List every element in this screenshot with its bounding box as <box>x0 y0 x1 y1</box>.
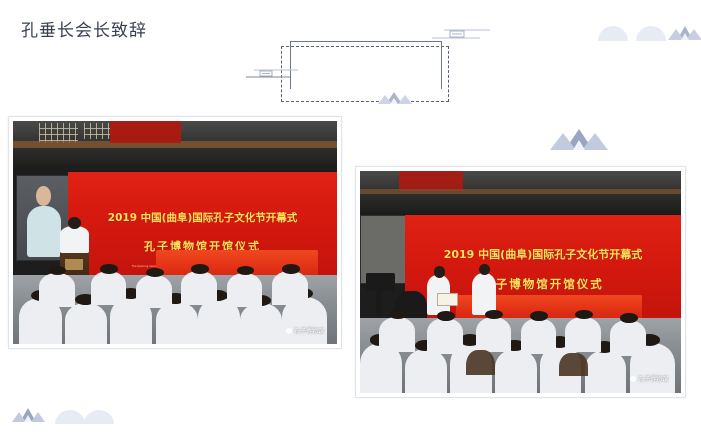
audience-head <box>530 311 548 321</box>
audience-member <box>227 273 263 307</box>
audience-head <box>282 264 300 273</box>
screen-face <box>36 186 52 206</box>
audience-head <box>146 268 164 277</box>
audience-member <box>65 303 107 344</box>
lattice-window <box>84 123 110 139</box>
scroll-line-icon <box>432 26 490 42</box>
banner-line-2: 孔子博物馆开馆仪式 <box>482 276 604 292</box>
watermark-text: 孔子博物馆 <box>638 374 668 383</box>
audience-head <box>485 310 503 320</box>
banner-line-1: 2019 中国(曲阜)国际孔子文化节开幕式 <box>108 210 297 225</box>
cloud-icon <box>55 410 85 424</box>
mountain-icon <box>550 122 608 150</box>
audience-member <box>610 320 645 356</box>
audience-member <box>495 349 537 393</box>
audience-head <box>620 313 638 323</box>
audience-member <box>240 303 282 344</box>
audience-member <box>521 318 556 354</box>
official-head <box>434 266 445 277</box>
speaker-head <box>68 217 81 229</box>
audience-member <box>272 271 308 305</box>
audience-head <box>100 264 118 273</box>
audience-member <box>565 317 600 353</box>
audience-member <box>181 271 217 305</box>
photo-right-image: 2019 中国(曲阜)国际孔子文化节开幕式 孔子博物馆开馆仪式 The Open… <box>360 171 681 393</box>
chair-back <box>559 353 588 376</box>
audience-member <box>39 273 75 307</box>
mountain-icon <box>378 88 414 104</box>
audience-member <box>379 317 414 353</box>
audience-member <box>476 317 511 353</box>
cloud-icon <box>598 26 628 41</box>
audience-member <box>91 271 127 305</box>
audience-member <box>405 349 447 393</box>
watermark-dot-icon <box>286 328 292 334</box>
wall-beam <box>360 189 681 195</box>
slide-canvas: 孔垂长会长致辞 <box>0 0 701 432</box>
cloud-icon <box>636 26 666 41</box>
audience-member <box>427 318 462 354</box>
watermark-text: 孔子博物馆 <box>294 326 324 335</box>
cloud-icon <box>84 410 114 424</box>
title-box <box>281 46 449 102</box>
page-title: 孔垂长会长致辞 <box>0 0 168 56</box>
audience-member <box>585 350 627 393</box>
audience-head <box>437 311 455 321</box>
audience-head <box>389 310 407 320</box>
mountain-icon <box>668 20 701 40</box>
photo-left-image: 2019 中国(曲阜)国际孔子文化节开幕式 孔子博物馆开馆仪式 The Open… <box>13 121 337 344</box>
banner-line-1: 2019 中国(曲阜)国际孔子文化节开幕式 <box>444 246 643 262</box>
screen-body <box>27 206 61 257</box>
audience-head <box>191 264 209 273</box>
watermark: 孔子博物馆 <box>630 374 668 383</box>
watermark-dot-icon <box>630 376 636 382</box>
red-upper-panel <box>110 121 181 143</box>
photo-left[interactable]: 2019 中国(曲阜)国际孔子文化节开幕式 孔子博物馆开馆仪式 The Open… <box>8 116 342 349</box>
watermark: 孔子博物馆 <box>286 326 324 335</box>
scroll-line-icon <box>246 66 298 82</box>
mountain-icon <box>12 404 46 422</box>
official-head <box>479 264 490 275</box>
chair-back <box>466 350 495 375</box>
photo-right[interactable]: 2019 中国(曲阜)国际孔子文化节开幕式 孔子博物馆开馆仪式 The Open… <box>355 166 686 398</box>
audience-head <box>575 310 593 320</box>
audience-member <box>136 275 172 309</box>
speaker-body <box>60 226 89 253</box>
camera-rig <box>366 273 395 291</box>
